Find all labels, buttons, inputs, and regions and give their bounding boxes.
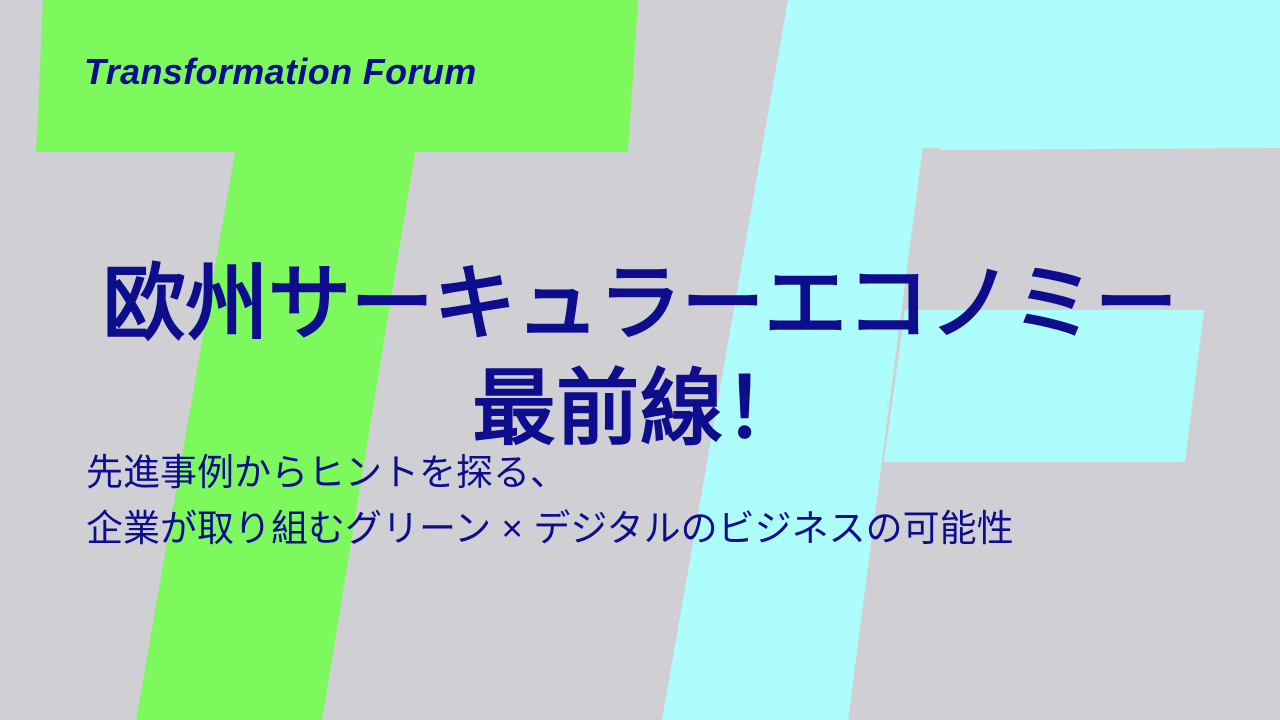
page-subtitle: 先進事例からヒントを探る、 企業が取り組むグリーン × デジタルのビジネスの可能… xyxy=(86,445,1014,557)
page-subtitle-line-1: 先進事例からヒントを探る、 xyxy=(86,445,1014,501)
decor-f-top-bar xyxy=(786,0,1280,150)
program-name: Transformation Forum xyxy=(84,50,477,93)
page-subtitle-line-2: 企業が取り組むグリーン × デジタルのビジネスの可能性 xyxy=(86,501,1014,557)
page-title: 欧州サーキュラーエコノミー 最前線！ xyxy=(0,252,1280,461)
page-title-line-1: 欧州サーキュラーエコノミー xyxy=(0,252,1280,357)
event-banner: Transformation Forum 欧州サーキュラーエコノミー 最前線！ … xyxy=(0,0,1280,720)
